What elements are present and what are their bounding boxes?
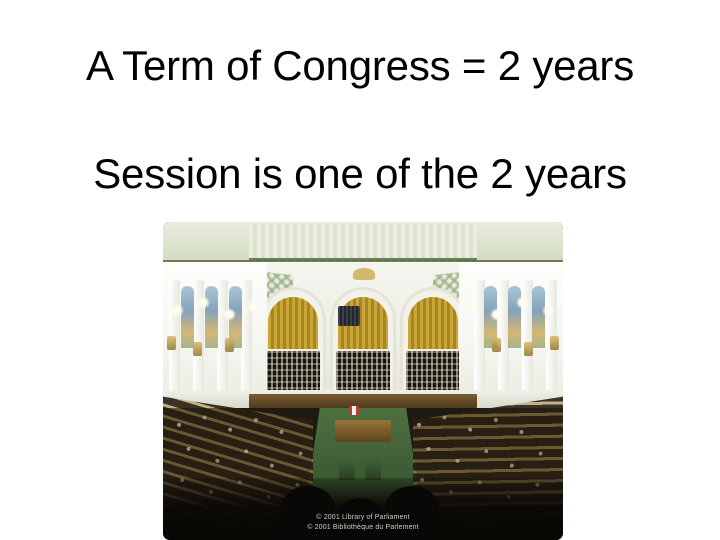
ceiling-lamp bbox=[171, 304, 184, 317]
clerks-desk-row bbox=[249, 394, 477, 408]
gold-curtain-left bbox=[268, 297, 318, 349]
stained-glass-window bbox=[532, 286, 545, 348]
stained-glass-window bbox=[181, 286, 194, 348]
parliament-chamber-photo: © 2001 Library of Parliament © 2001 Bibl… bbox=[163, 222, 563, 540]
ceiling-lamp bbox=[466, 300, 479, 313]
stained-glass-window bbox=[508, 286, 521, 348]
wall-lantern bbox=[492, 338, 501, 352]
copyright-line-fr: © 2001 Bibliothèque du Parlement bbox=[163, 523, 563, 533]
gold-curtain-right bbox=[408, 297, 458, 349]
gothic-arch-left bbox=[263, 290, 323, 400]
title-line-session: Session is one of the 2 years bbox=[0, 148, 720, 200]
stained-glass-window bbox=[205, 286, 218, 348]
colonnade-right bbox=[459, 262, 563, 410]
pillar bbox=[241, 280, 252, 408]
royal-crest bbox=[353, 268, 375, 280]
ceiling-lamp bbox=[223, 308, 236, 321]
slide-title-block: A Term of Congress = 2 years Session is … bbox=[0, 40, 720, 200]
title-line-term: A Term of Congress = 2 years bbox=[0, 40, 720, 92]
wall-lantern bbox=[193, 342, 202, 356]
photo-illustration: © 2001 Library of Parliament © 2001 Bibl… bbox=[163, 222, 563, 540]
gothic-arch-right bbox=[403, 290, 463, 400]
presentation-slide: A Term of Congress = 2 years Session is … bbox=[0, 0, 720, 540]
copyright-line-en: © 2001 Library of Parliament bbox=[163, 513, 563, 523]
ceiling-lamp bbox=[542, 304, 555, 317]
chamber-chair bbox=[339, 460, 355, 480]
wall-lantern bbox=[524, 342, 533, 356]
ceiling-lamp bbox=[516, 296, 529, 309]
wall-lantern bbox=[550, 336, 559, 350]
ceiling-lamp bbox=[247, 300, 260, 313]
clerks-table bbox=[335, 420, 391, 442]
chamber-chair bbox=[365, 460, 381, 480]
wall-lantern bbox=[225, 338, 234, 352]
ceiling-lamp bbox=[197, 296, 210, 309]
ceiling-panel bbox=[249, 224, 477, 261]
photo-copyright: © 2001 Library of Parliament © 2001 Bibl… bbox=[163, 513, 563, 532]
colonnade-left bbox=[163, 262, 267, 410]
canadian-flag bbox=[349, 406, 359, 415]
ceiling-lamp bbox=[490, 308, 503, 321]
wall-lantern bbox=[167, 336, 176, 350]
organ-pipes bbox=[338, 306, 360, 326]
